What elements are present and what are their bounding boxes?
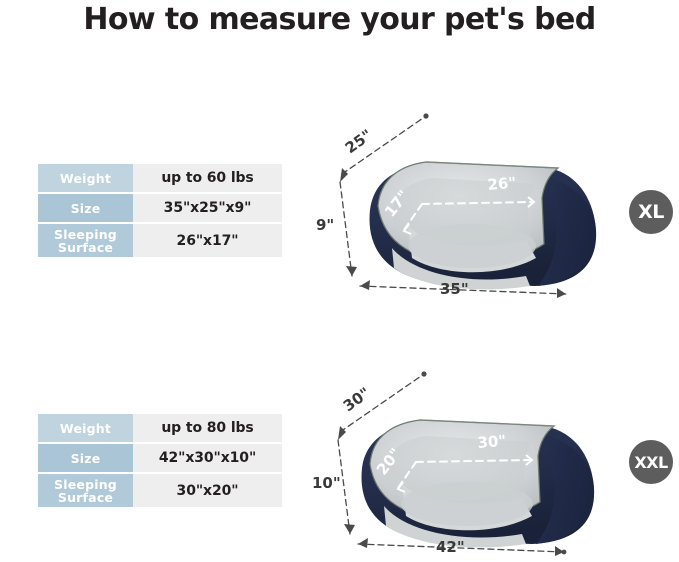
table-row: Size 42"x30"x10" (38, 443, 282, 473)
table-row: Weight up to 60 lbs (38, 164, 282, 193)
spec-label-weight: Weight (38, 164, 133, 193)
spec-label-sleeping-surface: Sleeping Surface (38, 473, 133, 507)
spec-label-line2: Surface (38, 491, 133, 504)
width-exterior-label: 35" (440, 280, 469, 298)
bed-illustration-xl: 26" 17" 25" 9" 35" (330, 98, 620, 298)
spec-label-weight: Weight (38, 414, 133, 443)
spec-label-line1: Sleeping (38, 228, 133, 241)
table-row: Size 35"x25"x9" (38, 193, 282, 223)
spec-value-size: 42"x30"x10" (133, 443, 282, 473)
sleeping-width-label: 26" (487, 174, 517, 194)
spec-label-size: Size (38, 443, 133, 473)
spec-table-xl: Weight up to 60 lbs Size 35"x25"x9" Slee… (38, 164, 282, 257)
depth-exterior-label: 25" (342, 126, 376, 157)
width-exterior-label: 42" (436, 538, 465, 556)
spec-value-size: 35"x25"x9" (133, 193, 282, 223)
table-row: Sleeping Surface 26"x17" (38, 223, 282, 257)
spec-label-size: Size (38, 193, 133, 223)
spec-label-line2: Surface (38, 241, 133, 254)
page-title: How to measure your pet's bed (0, 2, 679, 37)
bed-sleeping-surface (401, 482, 533, 530)
spec-table-xxl: Weight up to 80 lbs Size 42"x30"x10" Sle… (38, 414, 282, 507)
size-badge-xxl: XXL (629, 440, 673, 484)
table-row: Weight up to 80 lbs (38, 414, 282, 443)
height-dim-line (340, 182, 352, 276)
table-row: Sleeping Surface 30"x20" (38, 473, 282, 507)
bed-illustration-xxl: 30" 20" 30" 10" 42" (318, 352, 620, 557)
sleeping-width-label: 30" (477, 432, 507, 452)
spec-value-sleeping-surface: 26"x17" (133, 223, 282, 257)
depth-exterior-label: 30" (340, 384, 374, 415)
bed-sleeping-surface (408, 224, 536, 272)
height-exterior-label: 9" (316, 216, 334, 234)
spec-value-sleeping-surface: 30"x20" (133, 473, 282, 507)
height-exterior-label: 10" (312, 474, 341, 492)
spec-label-line1: Sleeping (38, 478, 133, 491)
size-badge-xl: XL (629, 190, 673, 234)
spec-label-sleeping-surface: Sleeping Surface (38, 223, 133, 257)
spec-value-weight: up to 80 lbs (133, 414, 282, 443)
spec-value-weight: up to 60 lbs (133, 164, 282, 193)
